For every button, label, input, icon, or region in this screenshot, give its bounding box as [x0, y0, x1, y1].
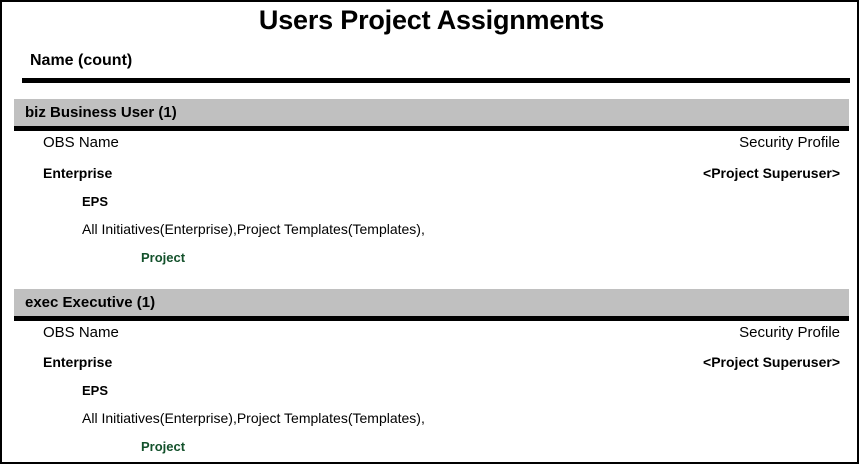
group-band-label-biz: biz Business User (1)	[25, 103, 177, 122]
table-row: Enterprise <Project Superuser>	[2, 162, 859, 184]
assignment-list: All Initiatives(Enterprise),Project Temp…	[82, 407, 425, 429]
page-title: Users Project Assignments	[2, 4, 859, 36]
security-profile-value: <Project Superuser>	[703, 351, 840, 373]
table-row: EPS	[2, 191, 859, 213]
group-column-header: Name (count)	[30, 51, 132, 71]
group-band-exec: exec Executive (1)	[14, 289, 849, 316]
table-row: Project	[2, 436, 859, 458]
column-header-security-profile: Security Profile	[739, 322, 840, 344]
eps-label: EPS	[82, 191, 108, 213]
obs-name-value: Enterprise	[43, 162, 112, 184]
header-rule	[22, 78, 850, 83]
table-row: All Initiatives(Enterprise),Project Temp…	[2, 218, 859, 240]
project-label: Project	[141, 247, 185, 269]
project-label: Project	[141, 436, 185, 458]
table-row: EPS	[2, 380, 859, 402]
group-band-biz: biz Business User (1)	[14, 99, 849, 126]
table-row: OBS Name Security Profile	[2, 322, 859, 344]
report-page: Users Project Assignments Name (count) b…	[0, 0, 859, 464]
assignment-list: All Initiatives(Enterprise),Project Temp…	[82, 218, 425, 240]
table-row: Project	[2, 247, 859, 269]
column-header-security-profile: Security Profile	[739, 132, 840, 154]
eps-label: EPS	[82, 380, 108, 402]
table-row: Enterprise <Project Superuser>	[2, 351, 859, 373]
group-band-rule-exec	[14, 316, 849, 321]
security-profile-value: <Project Superuser>	[703, 162, 840, 184]
obs-name-value: Enterprise	[43, 351, 112, 373]
table-row: OBS Name Security Profile	[2, 132, 859, 154]
group-band-rule-biz	[14, 126, 849, 131]
column-header-obs-name: OBS Name	[43, 132, 119, 154]
column-header-obs-name: OBS Name	[43, 322, 119, 344]
table-row: All Initiatives(Enterprise),Project Temp…	[2, 407, 859, 429]
group-band-label-exec: exec Executive (1)	[25, 293, 155, 312]
